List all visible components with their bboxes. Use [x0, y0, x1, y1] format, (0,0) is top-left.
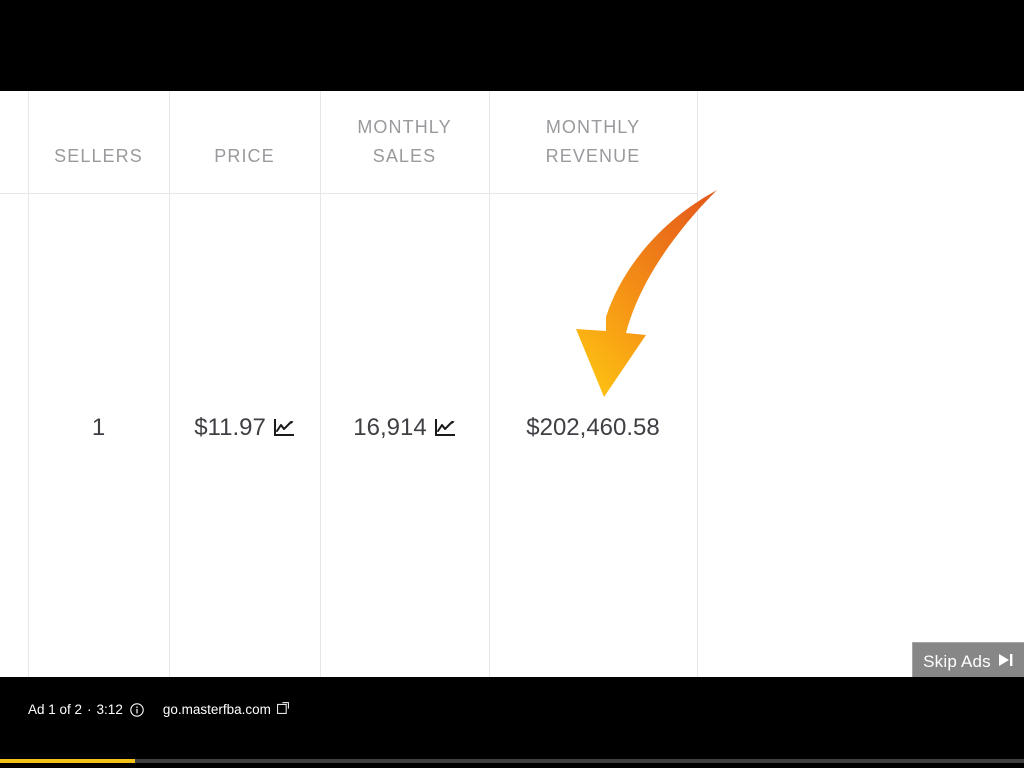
ad-counter-label: Ad 1 of 2 [28, 702, 82, 717]
table-header-row: SELLERS PRICE MONTHLY SALES MONTHLY REVE… [0, 91, 698, 193]
cell-monthly-sales: 16,914 [353, 414, 426, 441]
cell-price: $11.97 [194, 414, 266, 441]
column-header-monthly-revenue-line1: MONTHLY [489, 113, 697, 142]
skip-next-icon [998, 652, 1014, 672]
cell-monthly-sales-container: 16,914 [320, 413, 489, 446]
ad-separator-dot: · [87, 702, 92, 717]
column-header-monthly-revenue-line2: REVENUE [489, 142, 697, 171]
table-header-underline [0, 193, 698, 194]
cell-sellers: 1 [92, 414, 105, 441]
column-header-monthly-sales-line2: SALES [320, 142, 489, 171]
cell-price-container: $11.97 [169, 413, 320, 446]
column-header-monthly-sales: MONTHLY SALES [320, 113, 489, 171]
skip-ads-button[interactable]: Skip Ads [912, 642, 1024, 682]
product-data-table: SELLERS PRICE MONTHLY SALES MONTHLY REVE… [0, 91, 698, 677]
ad-time-remaining: 3:12 [97, 702, 123, 717]
column-header-monthly-revenue: MONTHLY REVENUE [489, 113, 697, 171]
trend-chart-icon [273, 416, 295, 446]
cell-monthly-revenue: $202,460.58 [526, 414, 659, 441]
skip-ads-label: Skip Ads [923, 652, 991, 672]
video-progress-fill [0, 759, 135, 763]
column-header-sellers: SELLERS [28, 142, 169, 171]
cell-monthly-revenue-container: $202,460.58 [489, 413, 697, 443]
info-icon[interactable] [130, 703, 144, 717]
youtube-video-player[interactable]: SELLERS PRICE MONTHLY SALES MONTHLY REVE… [0, 0, 1024, 768]
ad-visit-advertiser-link[interactable]: go.masterfba.com [163, 702, 289, 717]
video-progress-bar[interactable] [0, 759, 1024, 763]
video-content-area[interactable]: SELLERS PRICE MONTHLY SALES MONTHLY REVE… [0, 91, 1024, 677]
ad-visit-domain-label: go.masterfba.com [163, 702, 271, 717]
column-header-price-line1: PRICE [169, 142, 320, 171]
column-header-sellers-line1: SELLERS [28, 142, 169, 171]
column-header-price: PRICE [169, 142, 320, 171]
table-row: 1 [28, 413, 169, 443]
player-controls-bar[interactable]: Ad 1 of 2 · 3:12 go.masterfba.com [0, 677, 1024, 768]
ad-status-row: Ad 1 of 2 · 3:12 go.masterfba.com [28, 702, 289, 717]
column-header-monthly-sales-line1: MONTHLY [320, 113, 489, 142]
trend-chart-icon [434, 416, 456, 446]
external-link-icon [277, 702, 289, 717]
